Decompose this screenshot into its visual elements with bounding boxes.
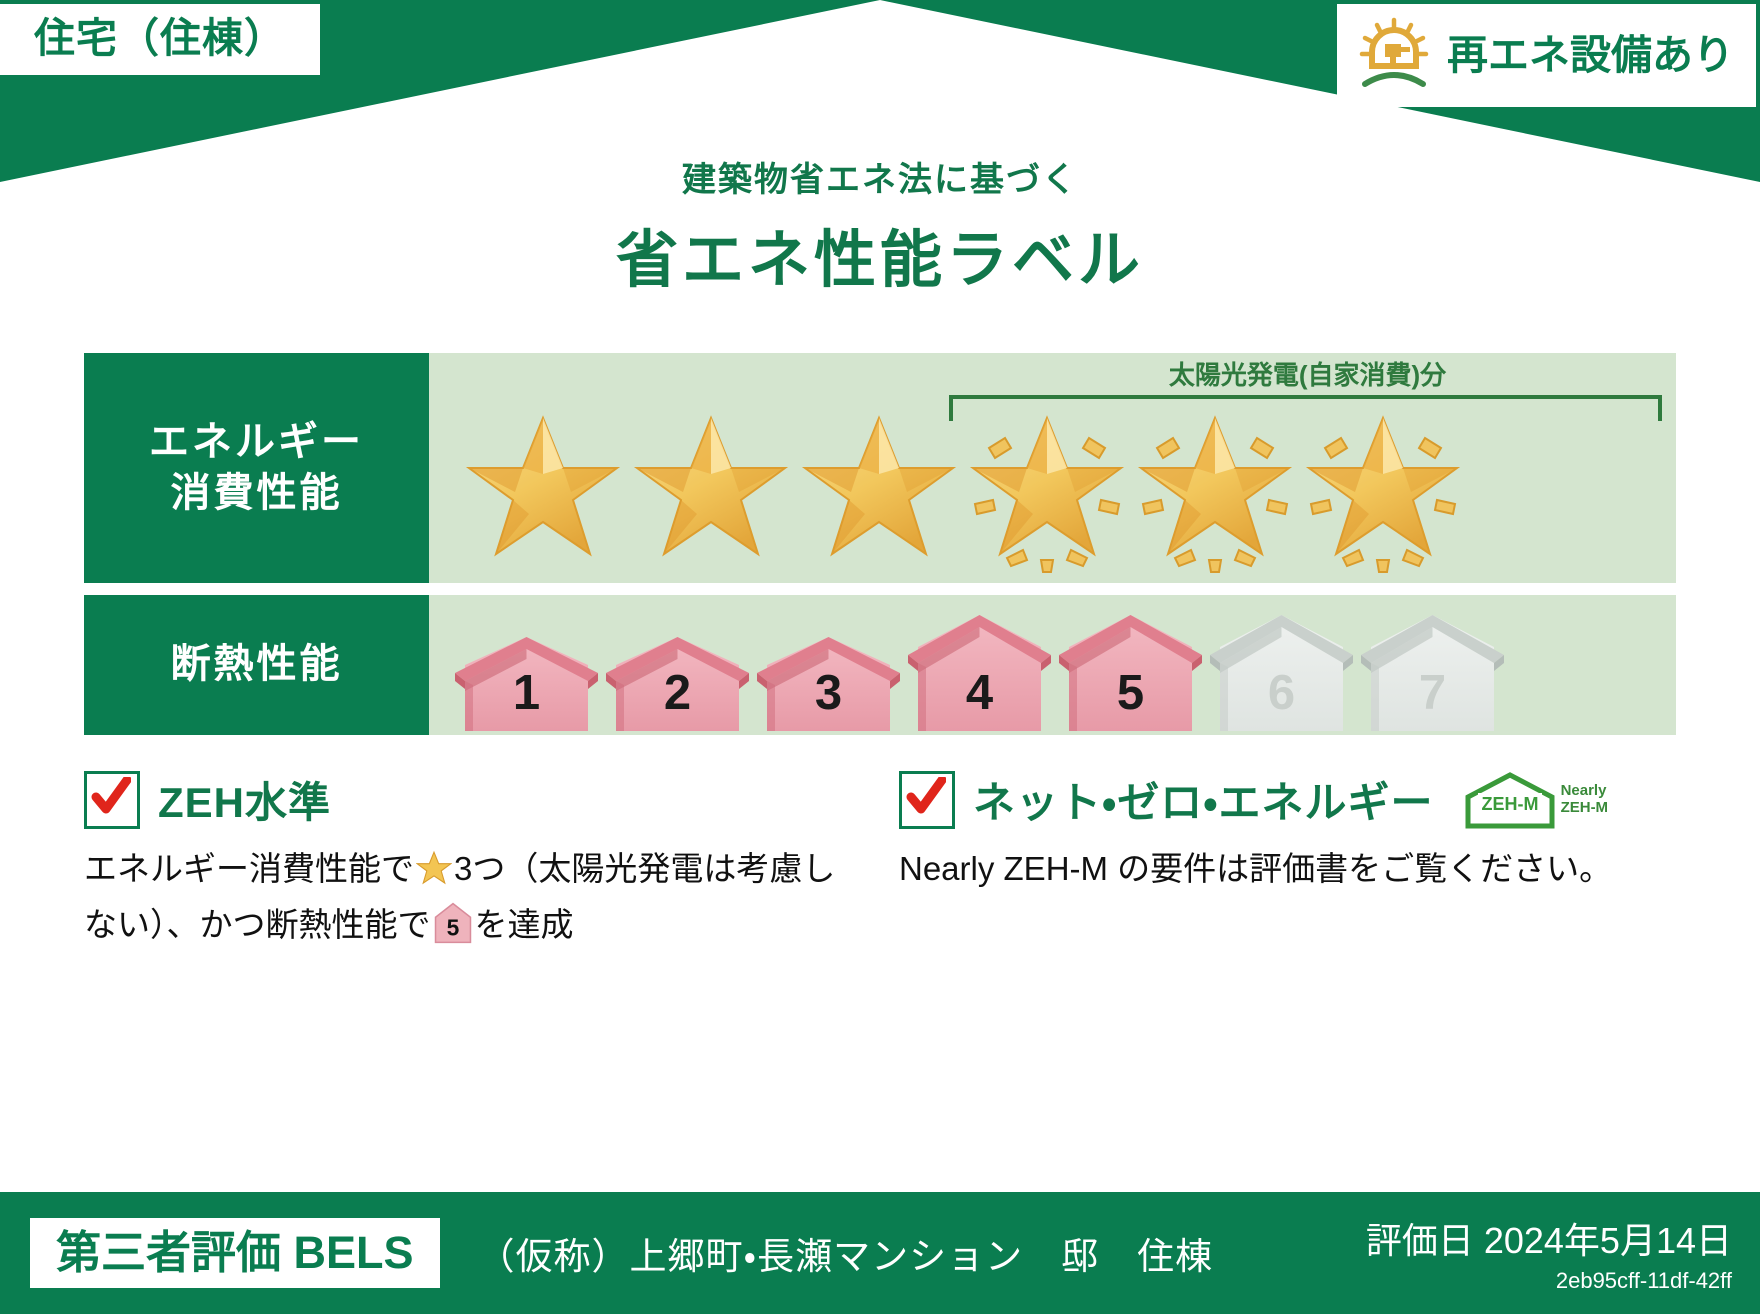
insulation-row-label: 断熱性能 — [84, 595, 429, 735]
star-solar — [1135, 408, 1295, 568]
star-filled — [799, 408, 959, 568]
renewable-badge-label: 再エネ設備あり — [1447, 35, 1734, 76]
star-filled — [463, 408, 623, 568]
zeh-standard-description: エネルギー消費性能で3つ（太陽光発電は考慮しない）、かつ断熱性能で5を達成 — [84, 844, 861, 958]
svg-text:ZEH-M: ZEH-M — [1481, 794, 1538, 814]
bels-label: 第三者評価 BELS — [56, 1228, 414, 1278]
zeh-desc-part2: 3つ（太陽光発電 — [454, 850, 703, 887]
label-card: 建築物省エネ法に基づく 省エネ性能ラベル エネルギー 消費性能 太陽光発電(自家… — [38, 196, 1722, 1044]
svg-text:5: 5 — [446, 915, 459, 941]
insulation-level-number: 2 — [604, 665, 751, 721]
energy-row-label-line2: 消費性能 — [171, 468, 343, 519]
net-zero-description: Nearly ZEH-M の要件は評価書をご覧ください。 — [899, 844, 1676, 894]
star-filled — [631, 408, 791, 568]
insulation-row-body: 1 2 — [429, 595, 1676, 735]
insulation-level-number: 3 — [755, 665, 902, 721]
insulation-level-number: 4 — [906, 665, 1053, 721]
zeh-desc-part4: を達成 — [475, 906, 574, 943]
criteria-columns: ZEH水準 エネルギー消費性能で3つ（太陽光発電は考慮しない）、かつ断熱性能で5… — [84, 769, 1676, 958]
insulation-level-achieved: 4 — [906, 613, 1053, 735]
star-solar — [967, 408, 1127, 568]
insulation-level-achieved: 1 — [453, 635, 600, 735]
insulation-level-achieved: 5 — [1057, 613, 1204, 735]
house-type-tag: 住宅（住棟） — [0, 4, 320, 75]
insulation-level-achieved: 3 — [755, 635, 902, 735]
check-icon — [91, 777, 131, 819]
net-zero-energy-column: ネット・ゼロ・エネルギー ZEH-M Nearly ZEH-M Nearly Z… — [899, 769, 1676, 958]
inline-star-icon — [416, 850, 452, 900]
net-zero-title: ネット・ゼロ・エネルギー — [973, 769, 1434, 830]
insulation-row-label-text: 断熱性能 — [171, 639, 343, 690]
star-rating — [463, 399, 1676, 577]
energy-row-label-line1: エネルギー — [149, 417, 364, 468]
zeh-m-nearly-line1: Nearly — [1561, 783, 1609, 800]
evaluation-info: 評価日 2024年5月14日 2eb95cff-11df-42ff — [1366, 1212, 1732, 1294]
zeh-m-nearly-label: Nearly ZEH-M — [1561, 783, 1609, 816]
zeh-standard-check-line: ZEH水準 — [84, 769, 861, 830]
evaluation-id: 2eb95cff-11df-42ff — [1366, 1268, 1732, 1294]
check-icon — [906, 777, 946, 819]
zeh-m-logo: ZEH-M Nearly ZEH-M — [1464, 771, 1609, 829]
insulation-level-number: 7 — [1359, 665, 1506, 721]
bels-badge: 第三者評価 BELS — [30, 1218, 440, 1288]
zeh-standard-title: ZEH水準 — [158, 769, 331, 830]
renewable-energy-badge: 再エネ設備あり — [1337, 4, 1756, 107]
star-solar — [1303, 408, 1463, 568]
insulation-level-scale: 1 2 — [453, 595, 1676, 735]
house-type-label: 住宅（住棟） — [34, 18, 286, 59]
insulation-level-number: 1 — [453, 665, 600, 721]
solar-annotation-label: 太陽光発電(自家消費)分 — [949, 355, 1666, 392]
net-zero-checkbox[interactable] — [899, 771, 955, 829]
insulation-level-achieved: 2 — [604, 635, 751, 735]
zeh-m-house-icon: ZEH-M — [1464, 771, 1556, 829]
insulation-level-number: 6 — [1208, 665, 1355, 721]
energy-performance-row: エネルギー 消費性能 太陽光発電(自家消費)分 — [84, 353, 1676, 583]
energy-row-body: 太陽光発電(自家消費)分 — [429, 353, 1676, 583]
zeh-desc-part1: エネルギー消費性能で — [84, 850, 414, 887]
insulation-level-inactive: 6 — [1208, 613, 1355, 735]
label-subtitle: 建築物省エネ法に基づく — [38, 152, 1722, 201]
insulation-performance-row: 断熱性能 1 — [84, 595, 1676, 735]
zeh-standard-column: ZEH水準 エネルギー消費性能で3つ（太陽光発電は考慮しない）、かつ断熱性能で5… — [84, 769, 861, 958]
label-title: 省エネ性能ラベル — [38, 209, 1722, 299]
insulation-level-number: 5 — [1057, 665, 1204, 721]
insulation-level-inactive: 7 — [1359, 613, 1506, 735]
zeh-m-nearly-line2: ZEH-M — [1561, 800, 1609, 817]
evaluation-date: 評価日 2024年5月14日 — [1366, 1212, 1732, 1264]
inline-house-level-icon: 5 — [434, 902, 472, 958]
energy-row-label: エネルギー 消費性能 — [84, 353, 429, 583]
zeh-standard-checkbox[interactable] — [84, 771, 140, 829]
property-name: （仮称）上郷町・長瀬マンション 邸 住棟 — [478, 1226, 1214, 1280]
solar-plug-icon — [1355, 14, 1433, 97]
footer-bar: 第三者評価 BELS （仮称）上郷町・長瀬マンション 邸 住棟 評価日 2024… — [0, 1192, 1760, 1314]
net-zero-check-line: ネット・ゼロ・エネルギー ZEH-M Nearly ZEH-M — [899, 769, 1676, 830]
